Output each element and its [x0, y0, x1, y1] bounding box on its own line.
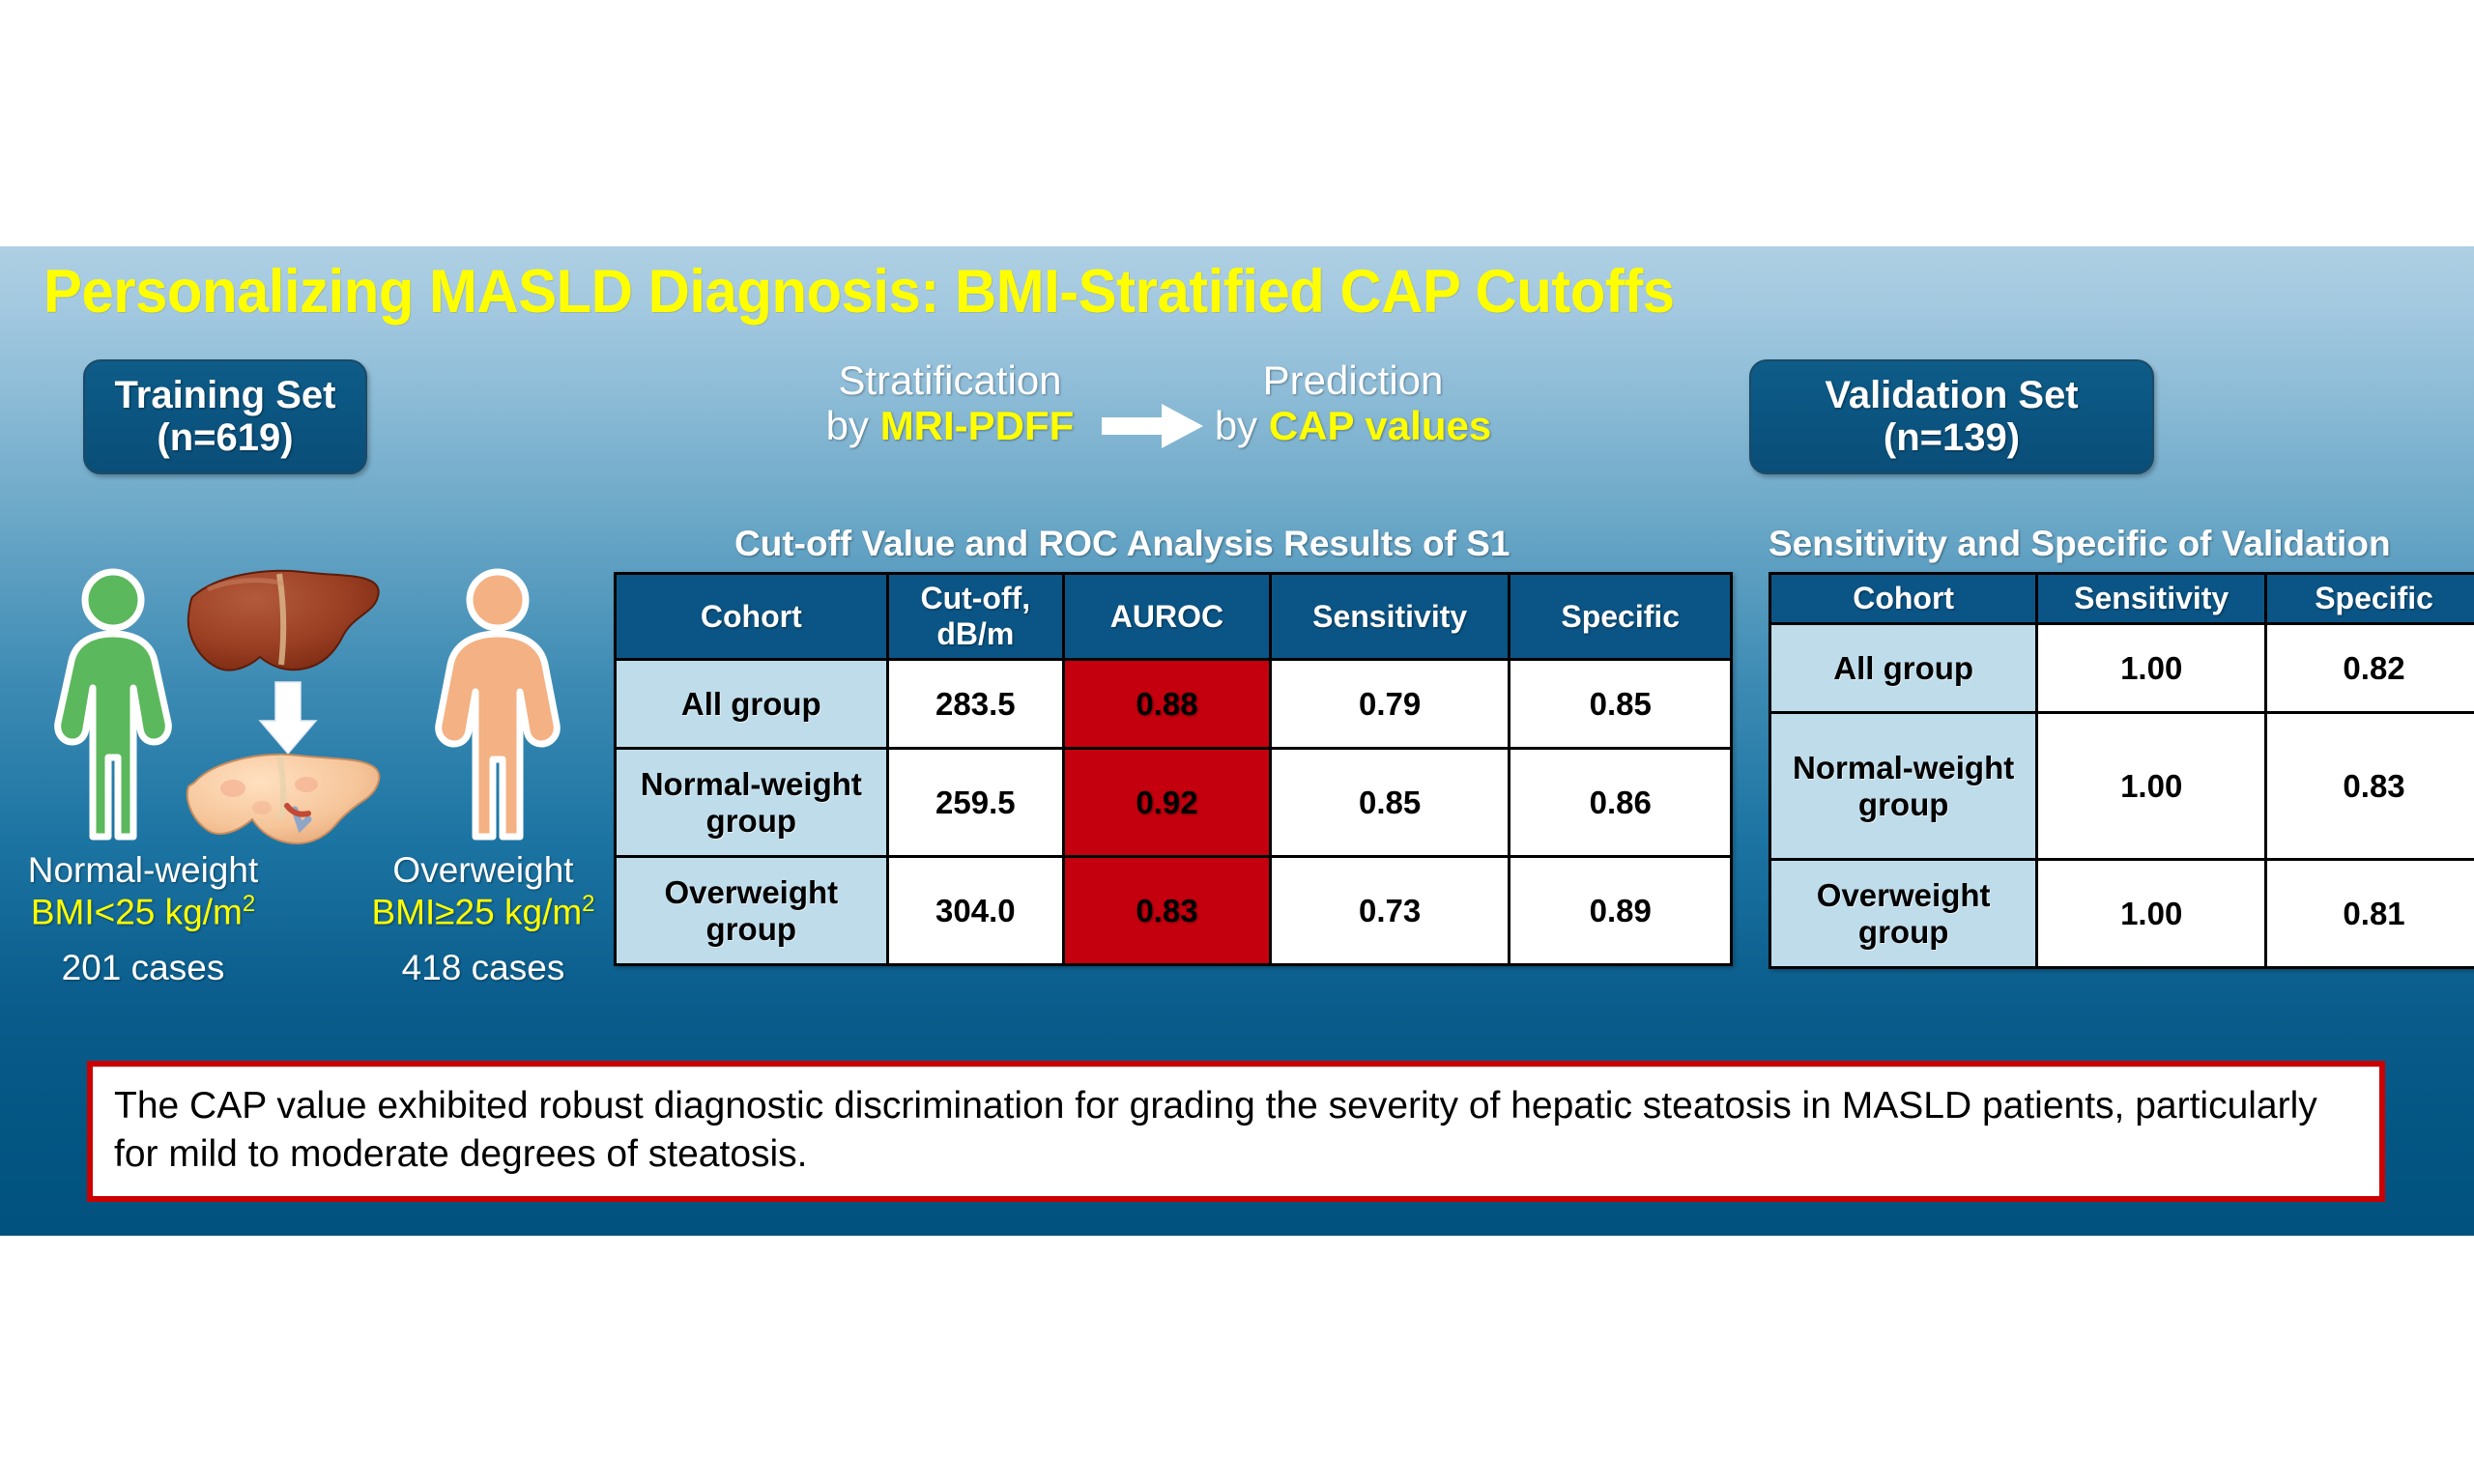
cell-cohort: Overweight group — [616, 857, 888, 965]
table-header-row: Cohort Cut-off, dB/m AUROC Sensitivity S… — [616, 574, 1732, 660]
col-cohort: Cohort — [616, 574, 888, 660]
person-icon-overweight — [425, 568, 570, 843]
cell-sensitivity: 1.00 — [2037, 713, 2266, 860]
main-table-caption: Cut-off Value and ROC Analysis Results o… — [734, 524, 1510, 564]
cohort-illustration — [0, 560, 618, 870]
stratification-block: Stratification by MRI-PDFF — [791, 357, 1109, 448]
cell-cohort: Normal-weight group — [616, 749, 888, 857]
table-row: Normal-weight group 1.00 0.83 — [1770, 713, 2474, 860]
cell-auroc: 0.83 — [1064, 857, 1271, 965]
table-row: Normal-weight group 259.5 0.92 0.85 0.86 — [616, 749, 1732, 857]
prediction-method: by CAP values — [1179, 403, 1527, 448]
workflow-flow: Stratification by MRI-PDFF Prediction by… — [773, 357, 1546, 473]
cell-auroc: 0.92 — [1064, 749, 1271, 857]
table-row: All group 1.00 0.82 — [1770, 624, 2474, 713]
normal-weight-bmi-exponent: 2 — [243, 891, 255, 917]
col-cutoff: Cut-off, dB/m — [887, 574, 1063, 660]
col-auroc: AUROC — [1064, 574, 1271, 660]
normal-weight-cases: 201 cases — [0, 948, 298, 988]
table-row: Overweight group 1.00 0.81 — [1770, 860, 2474, 968]
fatty-liver-icon — [187, 755, 380, 843]
roc-results-table: Cohort Cut-off, dB/m AUROC Sensitivity S… — [614, 572, 1733, 966]
stratification-label: Stratification — [791, 357, 1109, 403]
cell-auroc: 0.88 — [1064, 660, 1271, 749]
normal-weight-criteria: BMI<25 kg/m2 — [0, 891, 298, 932]
cell-specific: 0.82 — [2266, 624, 2474, 713]
cell-sensitivity: 1.00 — [2037, 624, 2266, 713]
normal-weight-caption: Normal-weight BMI<25 kg/m2 201 cases — [0, 850, 298, 988]
cell-sensitivity: 0.73 — [1270, 857, 1510, 965]
stratification-method: by MRI-PDFF — [791, 403, 1109, 448]
stratification-by: by — [826, 403, 880, 448]
col-cutoff-line1: Cut-off, — [920, 581, 1030, 615]
overweight-bmi-exponent: 2 — [582, 891, 594, 917]
page-title: Personalizing MASLD Diagnosis: BMI-Strat… — [43, 257, 1675, 327]
col-specific: Specific — [2266, 574, 2474, 624]
cap-values-highlight: CAP values — [1269, 403, 1491, 448]
overweight-criteria: BMI≥25 kg/m2 — [329, 891, 638, 932]
validation-results-table: Cohort Sensitivity Specific All group 1.… — [1769, 572, 2474, 969]
cell-cohort: Overweight group — [1770, 860, 2037, 968]
cell-specific: 0.85 — [1510, 660, 1732, 749]
liver-transition-illustration — [179, 560, 401, 850]
person-icon-normal-weight — [41, 568, 186, 843]
cell-cutoff: 259.5 — [887, 749, 1063, 857]
validation-set-badge: Validation Set (n=139) — [1749, 359, 2154, 474]
prediction-block: Prediction by CAP values — [1179, 357, 1527, 448]
mri-pdff-highlight: MRI-PDFF — [880, 403, 1075, 448]
normal-weight-bmi-text: BMI<25 kg/m — [31, 892, 243, 931]
cell-cohort: All group — [616, 660, 888, 749]
cell-cutoff: 283.5 — [887, 660, 1063, 749]
cell-sensitivity: 0.79 — [1270, 660, 1510, 749]
healthy-liver-icon — [188, 571, 379, 671]
col-cohort: Cohort — [1770, 574, 2037, 624]
cell-cutoff: 304.0 — [887, 857, 1063, 965]
overweight-label: Overweight — [329, 850, 638, 891]
overweight-bmi-text: BMI≥25 kg/m — [371, 892, 582, 931]
cell-specific: 0.83 — [2266, 713, 2474, 860]
table-row: All group 283.5 0.88 0.79 0.85 — [616, 660, 1732, 749]
prediction-label: Prediction — [1179, 357, 1527, 403]
training-set-count: (n=619) — [157, 417, 293, 459]
col-cutoff-line2: dB/m — [936, 616, 1014, 651]
down-arrow-icon — [260, 682, 316, 754]
cell-cohort: Normal-weight group — [1770, 713, 2037, 860]
col-sensitivity: Sensitivity — [2037, 574, 2266, 624]
conclusion-box: The CAP value exhibited robust diagnosti… — [87, 1061, 2385, 1202]
validation-table-caption: Sensitivity and Specific of Validation — [1769, 524, 2391, 564]
cell-sensitivity: 1.00 — [2037, 860, 2266, 968]
overweight-cases: 418 cases — [329, 948, 638, 988]
graphical-abstract: Personalizing MASLD Diagnosis: BMI-Strat… — [0, 0, 2474, 1484]
validation-set-count: (n=139) — [1884, 417, 2020, 459]
col-sensitivity: Sensitivity — [1270, 574, 1510, 660]
prediction-by: by — [1215, 403, 1269, 448]
normal-weight-label: Normal-weight — [0, 850, 298, 891]
cell-sensitivity: 0.85 — [1270, 749, 1510, 857]
col-specific: Specific — [1510, 574, 1732, 660]
training-set-label: Training Set — [115, 375, 336, 416]
cell-specific: 0.89 — [1510, 857, 1732, 965]
cell-specific: 0.86 — [1510, 749, 1732, 857]
training-set-badge: Training Set (n=619) — [83, 359, 367, 474]
table-header-row: Cohort Sensitivity Specific — [1770, 574, 2474, 624]
cell-specific: 0.81 — [2266, 860, 2474, 968]
validation-set-label: Validation Set — [1825, 375, 2078, 416]
cell-cohort: All group — [1770, 624, 2037, 713]
overweight-caption: Overweight BMI≥25 kg/m2 418 cases — [329, 850, 638, 988]
table-row: Overweight group 304.0 0.83 0.73 0.89 — [616, 857, 1732, 965]
